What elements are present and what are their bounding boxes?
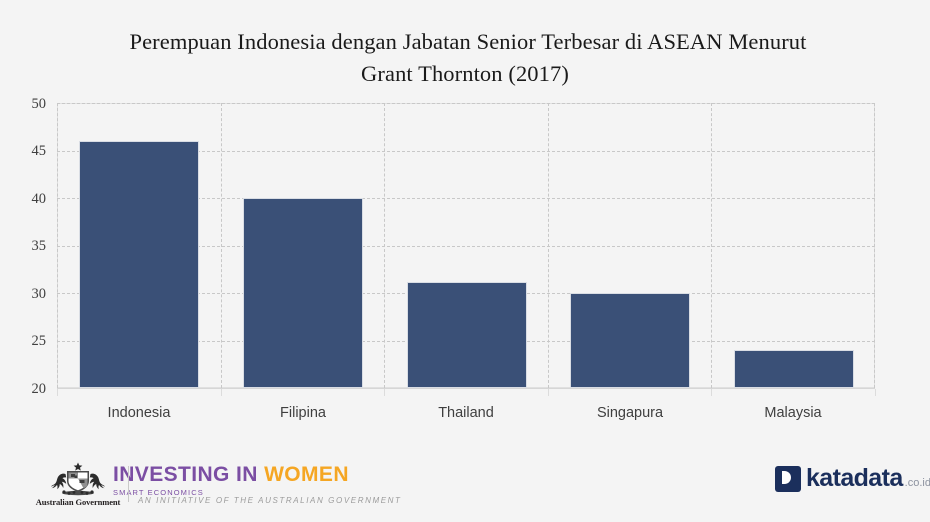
chart-screenshot: Perempuan Indonesia dengan Jabatan Senio…	[0, 0, 930, 522]
iw-word-women: WOMEN	[264, 463, 349, 486]
y-axis: 50 45 40 35 30 25 20	[0, 0, 48, 522]
plot-area	[57, 103, 875, 388]
footer-logo-divider	[128, 466, 129, 502]
bar-malaysia[interactable]	[734, 350, 854, 388]
katadata-logo[interactable]: katadata .co.id	[775, 466, 930, 492]
x-tick-mark	[875, 389, 876, 396]
australian-government-logo: Australian Government	[30, 462, 126, 507]
footer: Australian Government INVESTING IN WOMEN…	[0, 450, 930, 522]
x-tick-mark	[57, 389, 58, 396]
y-tick-label: 35	[0, 238, 46, 255]
chart-title-line-2: Grant Thornton (2017)	[0, 58, 930, 90]
bar-singapura[interactable]	[570, 293, 690, 388]
x-axis-line	[57, 388, 875, 389]
investing-in-women-wordmark: INVESTING IN WOMEN	[113, 464, 349, 485]
x-tick-mark	[384, 389, 385, 396]
x-label-filipina: Filipina	[221, 405, 385, 421]
chart-title: Perempuan Indonesia dengan Jabatan Senio…	[0, 26, 930, 90]
katadata-d-mark-icon	[775, 466, 801, 492]
bar-indonesia[interactable]	[79, 141, 199, 388]
y-tick-label: 40	[0, 191, 46, 208]
x-label-indonesia: Indonesia	[57, 405, 221, 421]
chart-title-line-1: Perempuan Indonesia dengan Jabatan Senio…	[0, 26, 930, 58]
bar-filipina[interactable]	[243, 198, 363, 388]
coat-of-arms-icon	[41, 462, 115, 496]
y-tick-label: 20	[0, 381, 46, 398]
x-label-malaysia: Malaysia	[711, 405, 875, 421]
bar-thailand[interactable]	[407, 282, 527, 388]
x-tick-mark	[711, 389, 712, 396]
y-tick-label: 25	[0, 333, 46, 350]
investing-in-women-tagline: AN INITIATIVE OF THE AUSTRALIAN GOVERNME…	[138, 496, 402, 505]
katadata-tld: .co.id	[905, 477, 930, 489]
y-tick-label: 45	[0, 143, 46, 160]
australian-government-label: Australian Government	[30, 497, 126, 507]
y-tick-label: 50	[0, 96, 46, 113]
x-tick-mark	[221, 389, 222, 396]
investing-in-women-logo: INVESTING IN WOMEN SMART ECONOMICS	[113, 464, 349, 497]
x-label-thailand: Thailand	[384, 405, 548, 421]
iw-word-investing-in: INVESTING IN	[113, 463, 264, 486]
bars-layer	[57, 103, 875, 388]
y-tick-label: 30	[0, 286, 46, 303]
x-tick-mark	[548, 389, 549, 396]
x-label-singapura: Singapura	[548, 405, 712, 421]
katadata-wordmark: katadata	[806, 466, 903, 491]
